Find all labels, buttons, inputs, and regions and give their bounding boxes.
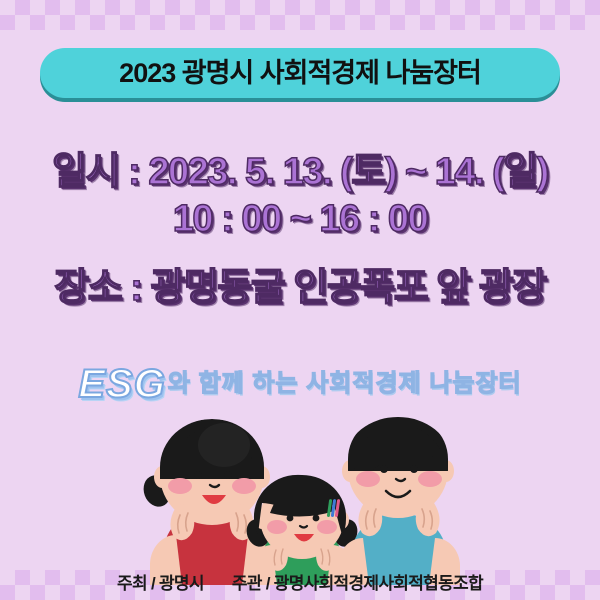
credit-host: 주최 / 광명시	[117, 569, 204, 594]
esg-wordmark: ESG	[78, 362, 165, 407]
slogan-text: 와 함께 하는 사회적경제 나눔장터	[168, 363, 522, 398]
middle-child-eye-left	[287, 515, 294, 522]
event-date: 일시 : 2023. 5. 13. (토) ~ 14. (일)	[0, 150, 600, 195]
middle-child-eye-right	[313, 515, 320, 522]
credit-organizer: 주관 / 광명사회적경제사회적협동조합	[232, 569, 483, 594]
footer-credits: 주최 / 광명시주관 / 광명사회적경제사회적협동조합	[0, 569, 600, 594]
right-child-cheek-left	[356, 471, 380, 487]
page-title: 2023 광명시 사회적경제 나눔장터	[119, 60, 481, 87]
checkerboard-border-top	[0, 0, 600, 30]
child-right	[338, 417, 460, 585]
event-poster: 2023 광명시 사회적경제 나눔장터 일시 : 2023. 5. 13. (토…	[0, 0, 600, 600]
right-child-eye-left	[380, 465, 388, 473]
event-place: 장소 : 광명동굴 인공폭포 앞 광장	[0, 266, 600, 311]
event-slogan: ESG와 함께 하는 사회적경제 나눔장터	[0, 362, 600, 407]
middle-child-cheek-left	[267, 520, 287, 534]
event-details: 일시 : 2023. 5. 13. (토) ~ 14. (일) 10 : 00 …	[0, 150, 600, 310]
event-time: 10 : 00 ~ 16 : 00	[0, 197, 600, 242]
right-child-cheek-right	[418, 471, 442, 487]
left-child-cheek-right	[232, 478, 256, 494]
middle-child-cheek-right	[317, 520, 337, 534]
left-child-eye-right	[224, 471, 232, 479]
title-banner: 2023 광명시 사회적경제 나눔장터	[40, 48, 560, 98]
left-child-eye-left	[194, 471, 202, 479]
three-children-illustration	[140, 415, 470, 585]
right-child-eye-right	[410, 465, 418, 473]
left-child-cheek-left	[168, 478, 192, 494]
